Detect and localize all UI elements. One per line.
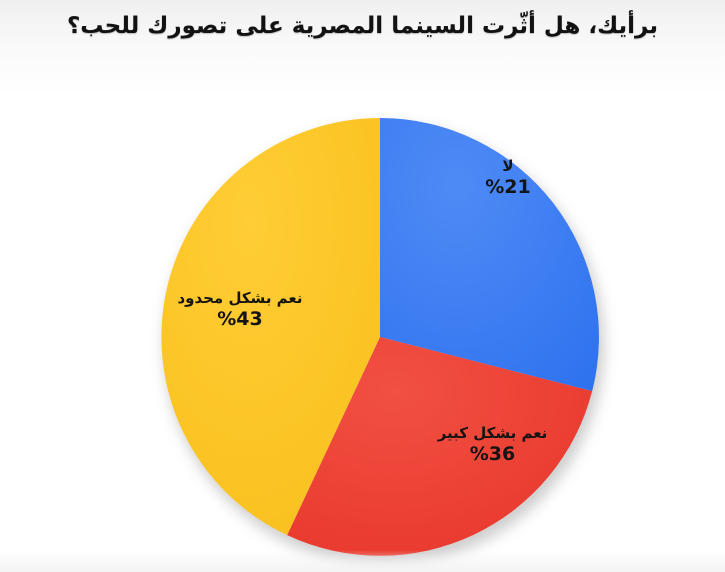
pie-graphic <box>160 117 600 557</box>
pie-svg <box>160 117 600 557</box>
pie-chart: لا %21 نعم بشكل كبير %36 نعم بشكل محدود … <box>0 0 725 572</box>
slide: برأيك، هل أثّرت السينما المصرية على تصور… <box>0 0 725 572</box>
